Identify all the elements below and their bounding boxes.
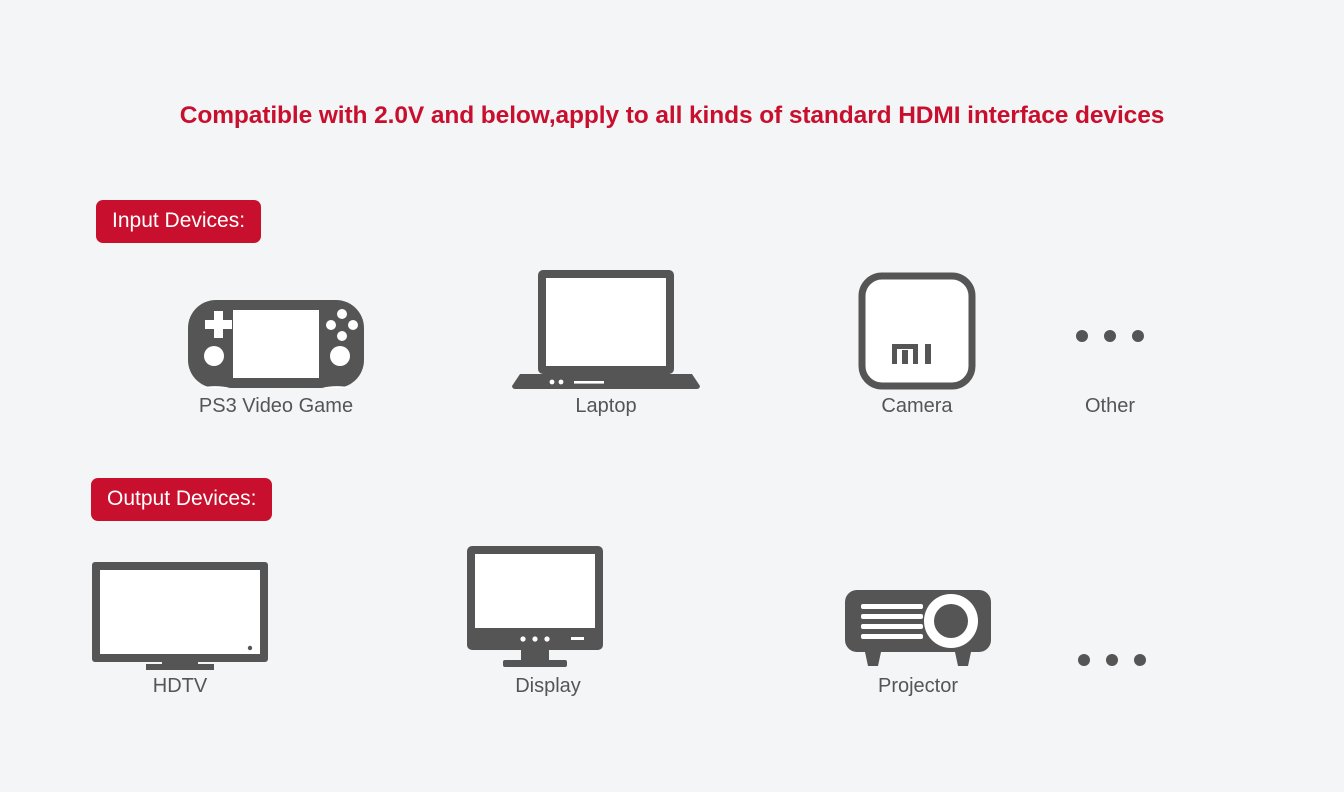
device-label: Laptop: [506, 395, 706, 418]
device-item-laptop: Laptop: [506, 262, 706, 432]
ellipsis-dot: [1106, 654, 1118, 666]
input-devices-row: PS3 Video Game Lapto: [0, 262, 1344, 432]
device-label: PS3 Video Game: [186, 395, 366, 418]
ellipsis-dot: [1076, 330, 1088, 342]
page-title: Compatible with 2.0V and below,apply to …: [0, 102, 1344, 130]
device-label: HDTV: [90, 675, 270, 698]
section-badge-output: Output Devices:: [91, 478, 272, 521]
icon-container: [1050, 262, 1170, 390]
device-item-ps3-video-game: PS3 Video Game: [186, 262, 366, 432]
icon-container: [1052, 542, 1172, 670]
device-item-display: Display: [465, 542, 631, 712]
icon-container: [186, 262, 366, 390]
laptop-icon: [506, 268, 706, 390]
ellipsis-dot: [1132, 330, 1144, 342]
mi-camera-icon: [858, 272, 976, 390]
device-label: Other: [1050, 395, 1170, 418]
ellipsis-dot: [1104, 330, 1116, 342]
output-devices-row: HDTV Display: [0, 542, 1344, 712]
handheld-game-console-icon: [186, 298, 366, 390]
device-item-projector: Projector: [843, 542, 993, 712]
icon-container: [90, 542, 270, 670]
projector-icon: [843, 588, 993, 670]
icon-container: [506, 262, 706, 390]
icon-container: [852, 262, 982, 390]
device-label: Projector: [843, 675, 993, 698]
monitor-icon: [465, 544, 631, 670]
device-item-other-output: [1052, 542, 1172, 712]
ellipsis-dot: [1134, 654, 1146, 666]
icon-container: [465, 542, 631, 670]
page-root: Compatible with 2.0V and below,apply to …: [0, 0, 1344, 792]
ellipsis-icon: [1078, 654, 1146, 666]
ellipsis-dot: [1078, 654, 1090, 666]
section-badge-input: Input Devices:: [96, 200, 261, 243]
device-item-hdtv: HDTV: [90, 542, 270, 712]
device-label: Camera: [852, 395, 982, 418]
hdtv-icon: [90, 560, 270, 670]
device-label: Display: [465, 675, 631, 698]
icon-container: [843, 542, 993, 670]
device-item-other: Other: [1050, 262, 1170, 432]
ellipsis-icon: [1076, 330, 1144, 342]
device-item-camera: Camera: [852, 262, 982, 432]
